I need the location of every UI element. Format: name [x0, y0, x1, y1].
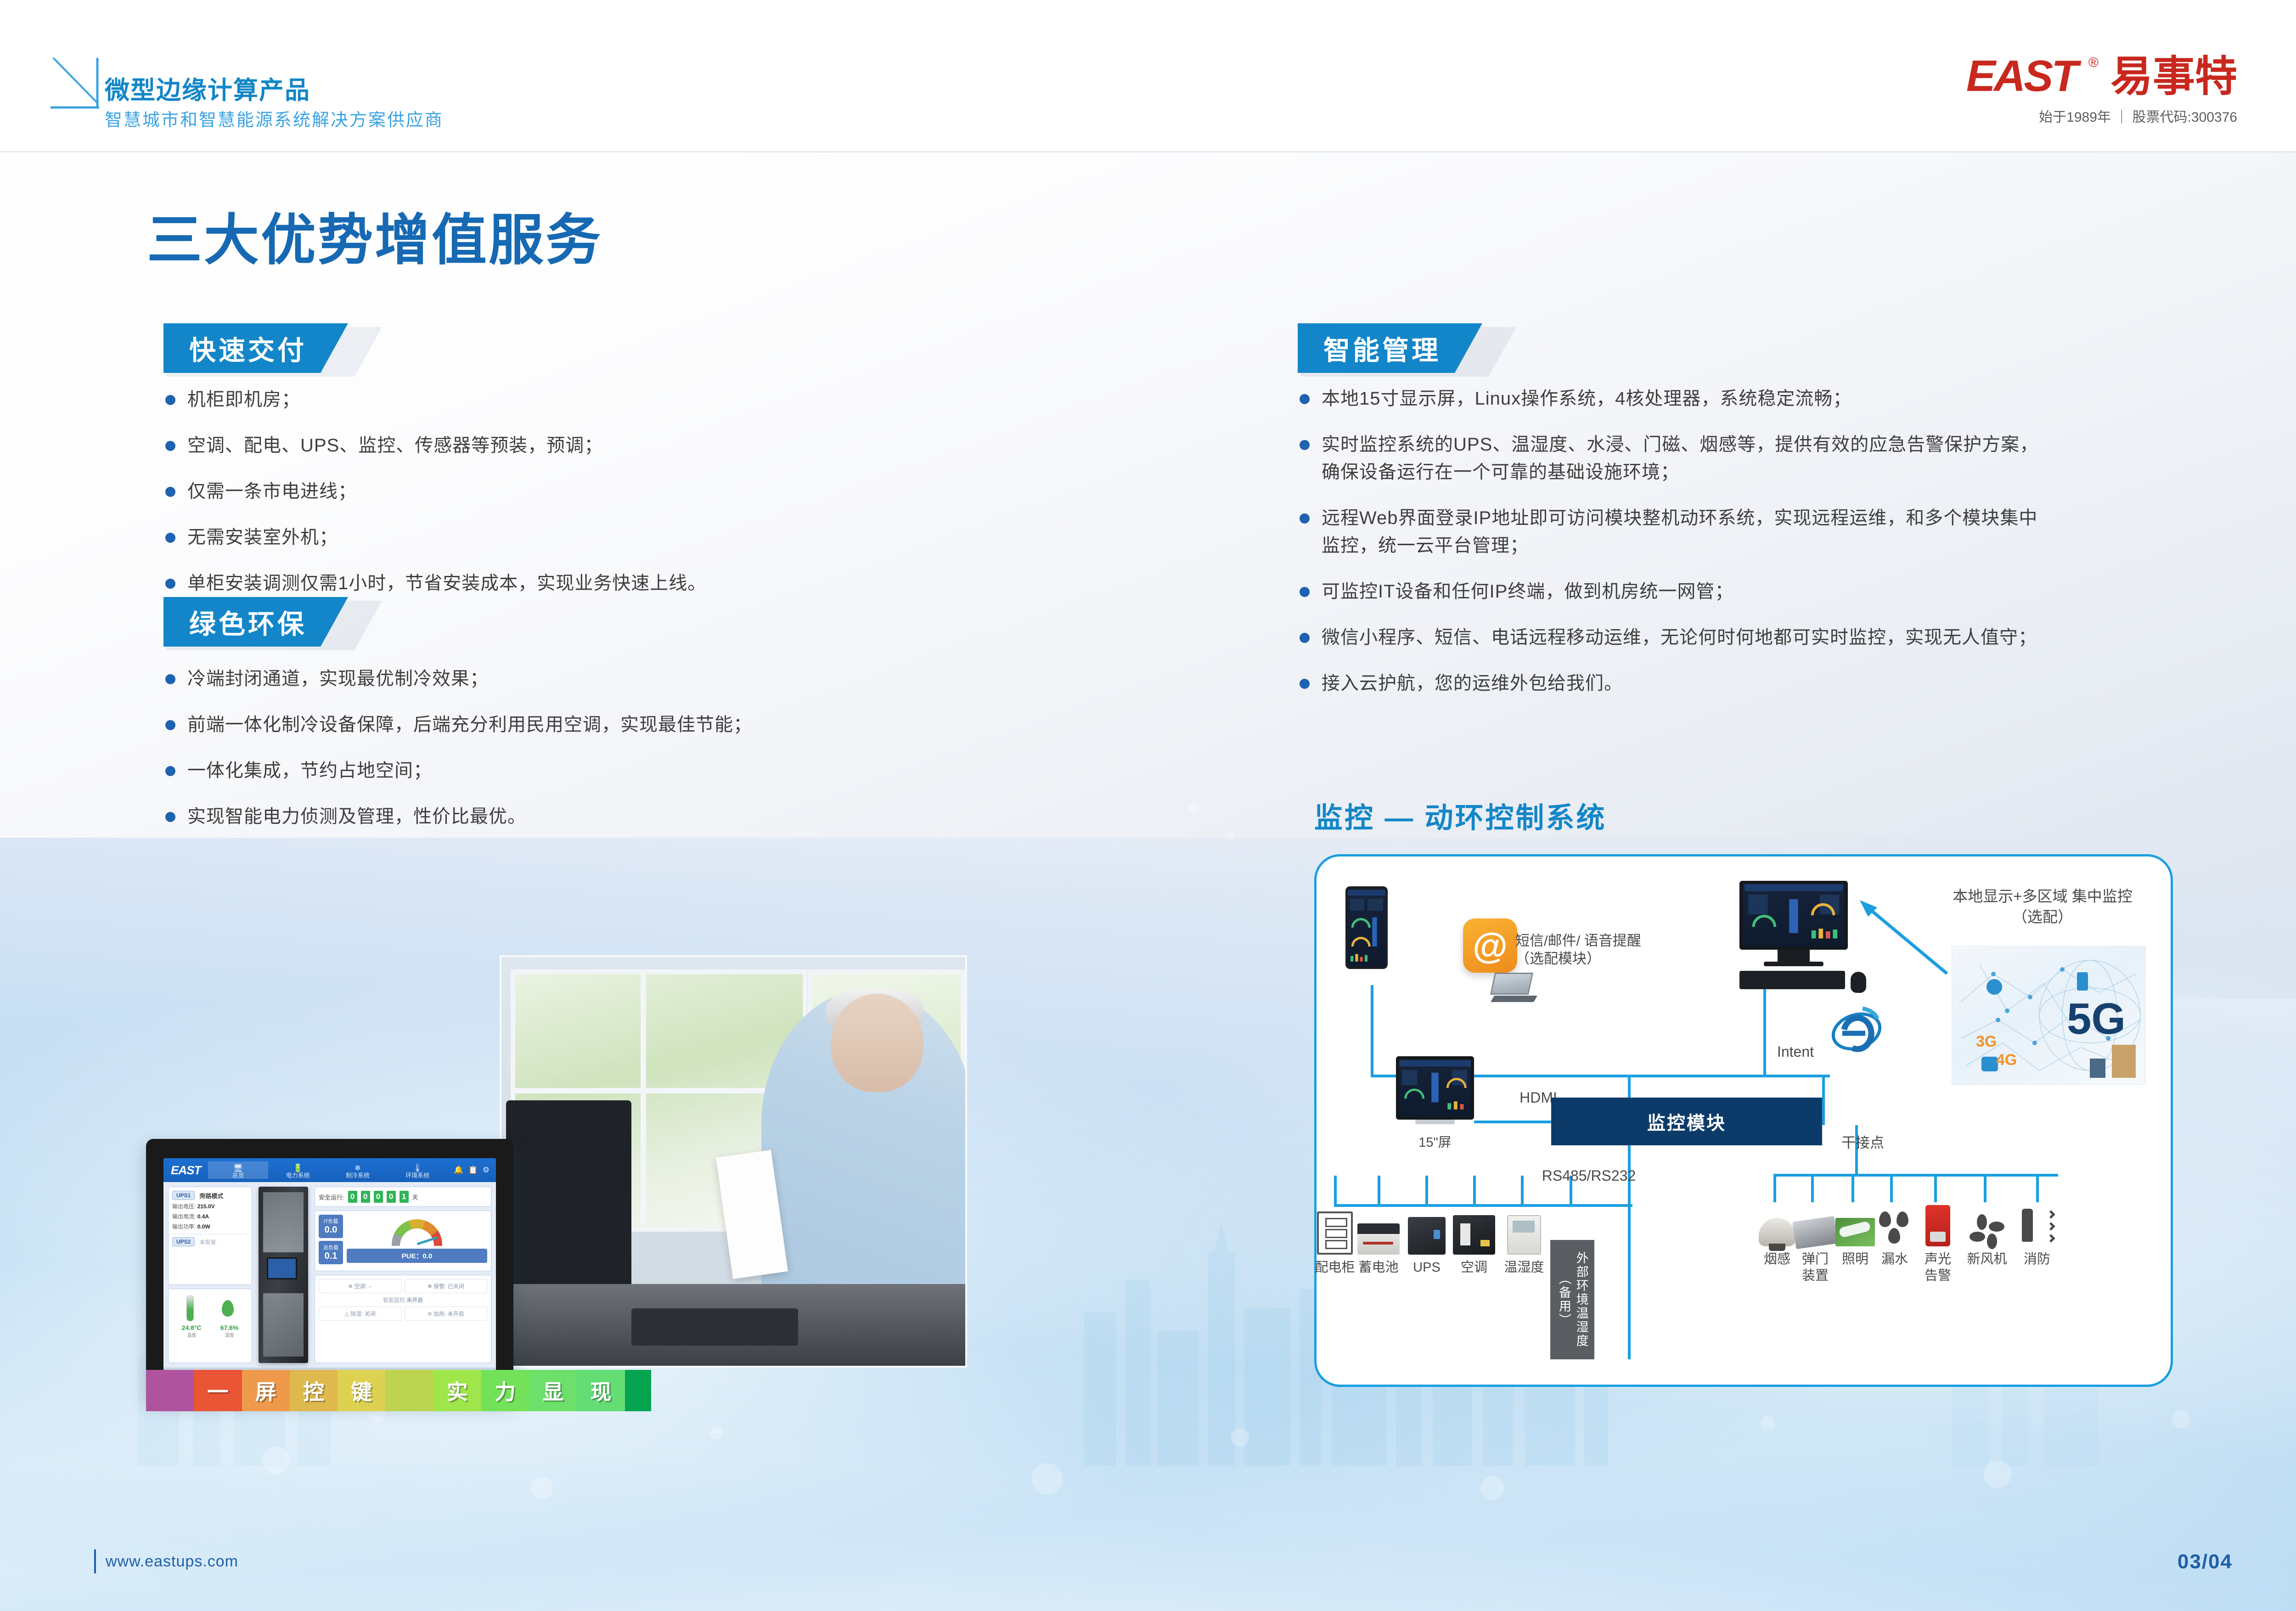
bullet-text: 可监控IT设备和任何IP终端，做到机房统一网管；: [1322, 578, 1733, 605]
strip-cell: 实: [433, 1370, 481, 1411]
bullet-text: 单柜安装调测仅需1小时，节省安装成本，实现业务快速上线。: [187, 569, 706, 597]
desktop-monitor: [1739, 881, 1848, 950]
fan-icon: ✻: [428, 1283, 432, 1290]
ups1-label: 输出电流:: [172, 1213, 196, 1220]
connector-serial-drop: [1334, 1176, 1337, 1206]
ac-shape: [1453, 1215, 1495, 1255]
sms-email-voice-label: 短信/邮件/ 语音提醒 （选配模块）: [1515, 932, 1667, 968]
list-item: 接入云护航，您的运维外包给我们。: [1300, 670, 2172, 697]
list-item: 本地15寸显示屏，Linux操作系统，4核处理器，系统稳定流畅；: [1300, 385, 2172, 412]
photo-mullion: [511, 1088, 798, 1093]
system-cell: △ 除湿: 关闭: [319, 1307, 401, 1321]
system-label: 除湿:: [350, 1311, 363, 1317]
monitor-stand: [1778, 950, 1810, 962]
list-icon[interactable]: 📋: [468, 1166, 478, 1175]
screen15-display: [1399, 1059, 1471, 1116]
device-label: 新风机: [1967, 1251, 2007, 1267]
total-load-label: 总负载: [323, 1244, 338, 1251]
tab-cooling[interactable]: ❄ 制冷系统: [328, 1161, 388, 1179]
power-icon: 🔋: [268, 1164, 328, 1173]
fan-shape: [1967, 1207, 2007, 1246]
photo-keyboard: [631, 1308, 799, 1345]
rs485-rs232-label: RS485/RS232: [1515, 1166, 1662, 1185]
safe-run-digit: 0: [374, 1191, 383, 1203]
office-photo: [500, 955, 967, 1368]
systems-card: ❄ 空调: -- ✻ 报警: 已关闭 智能监控: [315, 1275, 491, 1363]
pointer-arrow-icon: [1832, 886, 1952, 978]
screen15-label: 15"屏: [1396, 1134, 1474, 1151]
system-value: 已关闭: [448, 1283, 464, 1290]
it-load-value: 0.0: [323, 1225, 338, 1235]
system-center-title: 智能监控: [383, 1297, 405, 1303]
door-shape: [1792, 1216, 1838, 1249]
snow-icon: ❄: [328, 1164, 388, 1173]
bullet-text: 接入云护航，您的运维外包给我们。: [1322, 670, 1623, 697]
ups1-row: 输出电流: 0.4A: [172, 1212, 248, 1220]
strip-cell: 显: [529, 1370, 577, 1411]
safe-run-digit: 0: [361, 1191, 370, 1203]
smoke-shape: [1759, 1218, 1795, 1246]
environment-card: 24.8°C 温度 67.6% 湿度: [168, 1289, 252, 1363]
footer-page-number: 03/04: [2178, 1550, 2233, 1573]
bullet-text: 无需安装室外机；: [187, 524, 338, 551]
system-center-value: 未开启: [406, 1297, 423, 1303]
connector-dry-bus: [1773, 1174, 2058, 1177]
list-item: 可监控IT设备和任何IP终端，做到机房统一网管；: [1300, 578, 2172, 605]
strip-cell: 力: [481, 1370, 529, 1411]
bullet-dot-icon: [165, 487, 175, 497]
brochure-page: 微型边缘计算产品 智慧城市和智慧能源系统解决方案供应商 EAST ® 易事特 始…: [0, 0, 2296, 1611]
external-environment-box: 外部环境温湿度（备用）: [1550, 1240, 1594, 1359]
ups1-row: 输出功率: 0.0W: [172, 1222, 248, 1230]
water-shape: [1876, 1208, 1913, 1246]
safe-run-digit: 0: [348, 1191, 357, 1203]
humidity-drop-icon: [222, 1300, 234, 1317]
strip-cell: 键: [338, 1370, 385, 1411]
bullet-text: 前端一体化制冷设备保障，后端充分利用民用空调，实现最佳节能；: [187, 711, 752, 738]
label-5g: 5G: [2067, 994, 2126, 1043]
device-ups: UPS: [1401, 1211, 1452, 1276]
connector-internet-vertical: [1822, 1075, 1825, 1125]
strip-cell: 现: [577, 1370, 625, 1411]
it-load-label: IT负载: [323, 1217, 338, 1225]
audible-alarm-icon: [1925, 1202, 1950, 1246]
fire-shape: [2017, 1205, 2057, 1246]
footer-url: www.eastups.com: [106, 1553, 238, 1571]
screen15-stand: [1415, 1120, 1455, 1124]
system-cell: ❄ 空调: --: [319, 1279, 401, 1293]
header-title: 微型边缘计算产品: [105, 70, 310, 106]
list-item: 空调、配电、UPS、监控、传感器等预装，预调；: [165, 432, 808, 459]
temperature-value: 24.8°C: [182, 1324, 202, 1331]
alarm-shape: [1925, 1205, 1950, 1246]
overview-icon: 🖥: [208, 1164, 268, 1173]
pue-value: PUE：0.0: [347, 1249, 487, 1263]
bullet-list-smart: 本地15寸显示屏，Linux操作系统，4核处理器，系统稳定流畅； 实时监控系统的…: [1300, 385, 2172, 715]
strip-cell: [625, 1370, 651, 1411]
list-item: 机柜即机房；: [165, 386, 808, 413]
ups1-label: 输出功率:: [172, 1223, 196, 1230]
dry-contact-label: 干接点: [1841, 1134, 1933, 1152]
strip-cell: [146, 1370, 194, 1411]
device-label: 温湿度: [1504, 1259, 1544, 1276]
device-air-conditioner: 空调: [1447, 1211, 1501, 1276]
panel-top-bar: EAST 🖥 总览 🔋 电力系统 ❄ 制冷系统 🌡: [163, 1158, 496, 1182]
smoke-detector-icon: [1759, 1202, 1795, 1246]
list-item: 一体化集成，节约占地空间；: [165, 757, 817, 784]
device-label: 弹门 装置: [1802, 1251, 1829, 1284]
device-water-leak: 漏水: [1873, 1202, 1917, 1267]
lighting-icon: [1835, 1202, 1875, 1246]
bullet-text: 空调、配电、UPS、监控、传感器等预装，预调；: [187, 432, 603, 459]
connector-dry-drop: [1890, 1174, 1893, 1202]
email-notification-icon-group: @: [1463, 918, 1517, 973]
header-subtitle: 智慧城市和智慧能源系统解决方案供应商: [105, 106, 444, 131]
tab-label: 电力系统: [286, 1172, 310, 1179]
panel-ui: EAST 🖥 总览 🔋 电力系统 ❄ 制冷系统 🌡: [163, 1158, 496, 1381]
bullet-dot-icon: [165, 674, 175, 684]
screen15-device: [1396, 1056, 1474, 1120]
strip-cell: 控: [290, 1370, 338, 1411]
heat-icon: ≋: [428, 1311, 432, 1317]
ups2-mode: 未安装: [199, 1238, 216, 1246]
monitor-base: [1764, 962, 1823, 966]
ups1-value: 0.0W: [197, 1223, 210, 1230]
ups-card: UPS1 旁路模式 输出电压: 215.0V 输出电流: 0.4A: [168, 1187, 252, 1285]
list-item: 远程Web界面登录IP地址即可访问模块整机动环系统，实现远程运维，和多个模块集中…: [1300, 504, 2172, 559]
system-value: 关闭: [365, 1311, 376, 1317]
list-item: 冷端封闭通道，实现最优制冷效果；: [165, 665, 817, 693]
thermometer-icon: 🌡: [388, 1164, 447, 1173]
dehumidify-icon: △: [345, 1311, 349, 1317]
list-item: 实现智能电力侦测及管理，性价比最优。: [165, 803, 817, 830]
system-value: --: [368, 1283, 372, 1290]
door-opener-icon: [1794, 1202, 1836, 1246]
device-label: 照明: [1842, 1251, 1868, 1267]
system-cell: ≋ 加热: 未开启: [405, 1307, 487, 1321]
bullet-dot-icon: [165, 579, 175, 589]
company-logo: EAST ® 易事特 始于1989年 ｜ 股票代码:300376: [1966, 55, 2237, 126]
bullet-dot-icon: [165, 441, 175, 451]
bullet-dot-icon: [1300, 679, 1310, 689]
device-label: 声光 告警: [1925, 1251, 1951, 1284]
device-door-opener: 弹门 装置: [1793, 1202, 1838, 1284]
panel-logo: EAST: [163, 1163, 208, 1177]
system-label: 空调:: [355, 1283, 367, 1290]
footer-divider: [94, 1549, 96, 1573]
bullet-dot-icon: [165, 720, 175, 730]
light-shape: [1835, 1218, 1875, 1246]
header-divider: [0, 151, 2296, 152]
ups-shape: [1408, 1217, 1446, 1255]
list-item: 无需安装室外机；: [165, 524, 808, 551]
gear-icon[interactable]: ⚙: [483, 1166, 490, 1175]
photo-person-head: [831, 994, 923, 1092]
page-title: 三大优势增值服务: [147, 195, 602, 275]
monitoring-panel-screen[interactable]: EAST 🖥 总览 🔋 电力系统 ❄ 制冷系统 🌡: [146, 1139, 513, 1401]
phone-device: [1345, 886, 1388, 969]
bullet-dot-icon: [1300, 587, 1310, 597]
ups1-value: 0.4A: [197, 1213, 209, 1220]
connector-dry-drop: [1984, 1174, 1986, 1202]
keyboard-icon: [1739, 971, 1845, 989]
list-item: 单柜安装调测仅需1小时，节省安装成本，实现业务快速上线。: [165, 569, 808, 597]
laptop-icon: [1492, 973, 1535, 999]
desktop-screen: [1743, 884, 1845, 946]
load-card: IT负载 0.0 总负载 0.1: [315, 1211, 491, 1271]
bullet-dot-icon: [1300, 440, 1310, 450]
cabinet-icon: [1317, 1211, 1353, 1255]
device-label: 配电柜: [1315, 1259, 1355, 1276]
label-4g: 4G: [1996, 1051, 2017, 1069]
label-3g: 3G: [1976, 1033, 1997, 1050]
connector-dry-drop: [1773, 1174, 1776, 1202]
total-load-box: 总负载 0.1: [319, 1241, 343, 1264]
device-label: 消防: [2024, 1251, 2050, 1267]
diagram-title: 监控 — 动环控制系统: [1314, 794, 1606, 836]
air-conditioner-icon: [1453, 1211, 1495, 1255]
slogan-strip: 一 屏 控 键 实 力 显 现: [146, 1370, 651, 1411]
system-label: 加热:: [433, 1311, 446, 1317]
cabinet-shape: [1317, 1211, 1353, 1255]
brand-mark-icon: [50, 55, 109, 115]
bullet-text: 机柜即机房；: [187, 386, 300, 413]
logo-tagline: 始于1989年 ｜ 股票代码:300376: [1966, 106, 2237, 126]
thermometer-icon: [186, 1296, 194, 1321]
strip-cell: 一: [194, 1370, 242, 1411]
safe-run-digit: 1: [400, 1191, 409, 1203]
bullet-list-fast-delivery: 机柜即机房； 空调、配电、UPS、监控、传感器等预装，预调； 仅需一条市电进线；…: [165, 386, 808, 615]
list-item: 实时监控系统的UPS、温湿度、水浸、门磁、烟感等，提供有效的应急告警保护方案， …: [1300, 431, 2172, 486]
connector-desktop-vertical: [1763, 985, 1766, 1077]
panel-left-column: UPS1 旁路模式 输出电压: 215.0V 输出电流: 0.4A: [168, 1187, 252, 1363]
internet-explorer-icon: [1829, 1001, 1885, 1057]
connector-dry-drop: [1851, 1174, 1854, 1202]
device-temp-humidity: 温湿度: [1498, 1211, 1550, 1276]
system-center: 智能监控 未开启: [319, 1296, 487, 1304]
bullet-text: 仅需一条市电进线；: [187, 478, 357, 505]
water-leak-icon: [1876, 1202, 1913, 1246]
ups1-label: 输出电压:: [172, 1203, 196, 1210]
total-load-value: 0.1: [323, 1251, 338, 1262]
system-cell: ✻ 报警: 已关闭: [405, 1279, 487, 1293]
bullet-text: 远程Web界面登录IP地址即可访问模块整机动环系统，实现远程运维，和多个模块集中…: [1322, 504, 2037, 559]
it-load-box: IT负载 0.0: [319, 1215, 343, 1238]
laptop-screen: [1490, 973, 1533, 995]
device-battery: 蓄电池: [1353, 1211, 1404, 1276]
strip-cell: 屏: [242, 1370, 290, 1411]
local-15-screen-group: [1396, 1056, 1474, 1124]
temp-humidity-icon: [1507, 1211, 1541, 1255]
env-icons: [172, 1296, 248, 1321]
tab-overview[interactable]: 🖥 总览: [208, 1161, 268, 1179]
registered-mark-icon: ®: [2088, 55, 2099, 71]
ups1-value: 215.0V: [197, 1203, 215, 1210]
device-lighting: 照明: [1833, 1202, 1877, 1267]
panel-right-column: 安全运行: 0 0 0 0 1 天 IT负载: [315, 1187, 491, 1363]
cabinet-bottom-door: [263, 1293, 304, 1357]
pue-gauge: [392, 1219, 442, 1246]
safe-run-label: 安全运行:: [319, 1193, 344, 1201]
device-label: 空调: [1461, 1259, 1487, 1276]
tab-power[interactable]: 🔋 电力系统: [268, 1161, 328, 1179]
list-item: 仅需一条市电进线；: [165, 478, 808, 505]
ups1-row: 输出电压: 215.0V: [172, 1202, 248, 1210]
cabinet-screen: [267, 1257, 297, 1279]
page-footer: www.eastups.com 03/04: [0, 1515, 2296, 1611]
monitoring-module-block: 监控模块: [1551, 1098, 1822, 1145]
product-photo-composite: EAST 🖥 总览 🔋 电力系统 ❄ 制冷系统 🌡: [146, 955, 963, 1414]
temperature-label: 温度: [182, 1331, 202, 1338]
system-label: 报警:: [433, 1283, 446, 1290]
safe-run-card: 安全运行: 0 0 0 0 1 天: [315, 1187, 491, 1207]
connector-dry-drop: [1934, 1174, 1937, 1202]
bullet-dot-icon: [165, 812, 175, 822]
bullet-dot-icon: [1300, 394, 1310, 404]
device-label: 烟感: [1764, 1251, 1790, 1267]
remote-monitoring-label: 本地显示+多区域 集中监控（选配）: [1941, 886, 2144, 927]
mobile-phone: [1345, 886, 1388, 969]
connector-serial-drop: [1378, 1176, 1380, 1206]
humidity-label: 湿度: [220, 1331, 239, 1338]
connector-dry-drop: [1811, 1174, 1814, 1202]
bullet-dot-icon: [1300, 633, 1310, 643]
bullet-list-green: 冷端封闭通道，实现最优制冷效果； 前端一体化制冷设备保障，后端充分利用民用空调，…: [165, 665, 817, 849]
bullet-dot-icon: [165, 766, 175, 776]
device-fire-protection: 消防: [2015, 1202, 2059, 1267]
fire-extinguisher-icon: [2017, 1202, 2057, 1246]
list-item: 微信小程序、短信、电话远程移动运维，无论何时何地都可实时监控，实现无人值守；: [1300, 624, 2172, 651]
at-sign-icon: @: [1463, 918, 1517, 973]
battery-shape: [1357, 1223, 1400, 1255]
laptop-base: [1491, 996, 1537, 1002]
section-badge-fast-delivery: 快速交付: [163, 323, 348, 373]
device-label: 漏水: [1881, 1251, 1908, 1267]
safe-run-unit: 天: [412, 1193, 418, 1201]
device-fresh-air-fan: 新风机: [1962, 1202, 2012, 1267]
bullet-dot-icon: [1300, 513, 1310, 524]
device-label: UPS: [1413, 1259, 1441, 1276]
tab-label: 环境系统: [405, 1172, 429, 1179]
bullet-text: 本地15寸显示屏，Linux操作系统，4核处理器，系统稳定流畅；: [1322, 385, 1851, 412]
bullet-text: 一体化集成，节约占地空间；: [187, 757, 432, 784]
logo-east-text: EAST: [1966, 55, 2077, 97]
strip-cell: [385, 1370, 433, 1411]
phone-screen: [1348, 889, 1385, 967]
section-badge-green: 绿色环保: [163, 597, 348, 647]
tab-label: 总览: [232, 1172, 244, 1179]
connector-phone-vertical: [1371, 985, 1373, 1077]
system-value: 未开启: [448, 1311, 464, 1317]
internet-label: Intent: [1750, 1042, 1841, 1061]
battery-icon: [1357, 1211, 1400, 1255]
connector-serial-drop: [1425, 1176, 1428, 1206]
ups2-tag: UPS2: [172, 1237, 195, 1246]
snow-icon: ❄: [348, 1283, 353, 1290]
logo-chinese-text: 易事特: [2110, 55, 2237, 97]
ups1-mode: 旁路模式: [199, 1191, 223, 1200]
panel-body: UPS1 旁路模式 输出电压: 215.0V 输出电流: 0.4A: [163, 1182, 496, 1368]
desktop-monitor-group: [1739, 881, 1848, 989]
connector-dry-drop: [2036, 1174, 2039, 1202]
ups-icon: [1408, 1211, 1446, 1255]
bullet-dot-icon: [165, 533, 175, 543]
systems-grid: ❄ 空调: -- ✻ 报警: 已关闭 智能监控: [319, 1279, 487, 1321]
fan-icon: [1967, 1202, 2007, 1246]
tab-environment[interactable]: 🌡 环境系统: [388, 1161, 447, 1179]
device-audible-alarm: 声光 告警: [1916, 1202, 1960, 1284]
network-5g-illustration: 5G 3G 4G: [1952, 946, 2145, 1085]
ups1-tag: UPS1: [172, 1191, 195, 1200]
env-values: 24.8°C 温度 67.6% 湿度: [172, 1324, 248, 1338]
humidity-value: 67.6%: [220, 1324, 239, 1331]
section-badge-smart-management: 智能管理: [1298, 323, 1482, 373]
safe-run-digit: 0: [387, 1191, 396, 1203]
photo-mullion: [641, 969, 646, 1223]
bullet-text: 微信小程序、短信、电话远程移动运维，无论何时何地都可实时监控，实现无人值守；: [1322, 624, 2037, 651]
connector-module-bottom: [1628, 1116, 1631, 1359]
bullet-text: 实现智能电力侦测及管理，性价比最优。: [187, 803, 526, 830]
cabinet-illustration: [259, 1187, 308, 1363]
bullet-text: 实时监控系统的UPS、温湿度、水浸、门磁、烟感等，提供有效的应急告警保护方案， …: [1322, 431, 2038, 486]
sensor-shape: [1507, 1215, 1541, 1255]
list-item: 前端一体化制冷设备保障，后端充分利用民用空调，实现最佳节能；: [165, 711, 817, 738]
connector-serial-drop: [1473, 1176, 1476, 1206]
panel-status-icons: 🔔 📋 ⚙: [447, 1166, 496, 1175]
tab-label: 制冷系统: [346, 1172, 370, 1179]
device-label: 蓄电池: [1358, 1259, 1398, 1276]
bullet-dot-icon: [165, 395, 175, 405]
cabinet-top-door: [263, 1192, 304, 1252]
bell-icon[interactable]: 🔔: [454, 1166, 463, 1175]
bullet-text: 冷端封闭通道，实现最优制冷效果；: [187, 665, 489, 693]
